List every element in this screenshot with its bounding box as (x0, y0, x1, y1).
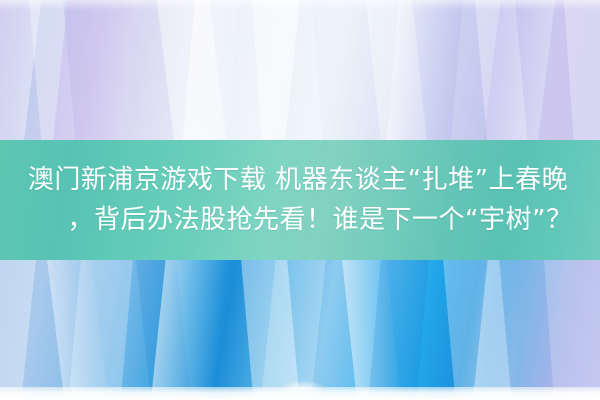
facet-shard-top-1 (0, 0, 48, 142)
headline-line-2: ，背后办法股抢先看！谁是下一个“宇树”？ (68, 200, 573, 240)
bottom-white-strip (0, 387, 600, 400)
facet-shard-bot-11 (467, 258, 535, 400)
facet-shard-top-9 (382, 0, 468, 142)
facet-shard-bot-1 (0, 258, 42, 400)
bottom-background-panel (0, 258, 600, 400)
facet-shard-top-6 (248, 0, 326, 142)
facet-shard-top-2 (24, 0, 80, 142)
facet-shard-top-11 (477, 0, 562, 142)
facet-shard-bot-4 (130, 258, 196, 400)
facet-shard-top-4 (150, 0, 233, 142)
facet-shard-top-3 (47, 0, 143, 142)
facet-shard-bot-6 (236, 258, 304, 400)
facet-shard-top-8 (360, 0, 432, 142)
facet-shard-top-7 (279, 0, 355, 142)
top-edge-highlight (0, 0, 600, 10)
facet-shard-bot-9 (364, 258, 434, 400)
facet-shard-top-12 (560, 0, 600, 142)
top-background-panel (0, 0, 600, 142)
facet-shard-bot-10 (438, 258, 516, 400)
facet-shard-bot-3 (64, 258, 138, 400)
headline-line-1: 澳门新浦京游戏下载 机器东谈主“扎堆”上春晚 (28, 160, 568, 200)
facet-shard-top-5 (178, 0, 244, 142)
facet-shard-bot-8 (336, 258, 406, 400)
facet-shard-bot-12 (540, 258, 600, 400)
promo-banner: 澳门新浦京游戏下载 机器东谈主“扎堆”上春晚 ，背后办法股抢先看！谁是下一个“宇… (0, 0, 600, 400)
facet-shard-top-10 (470, 0, 532, 142)
facet-shard-bot-2 (40, 258, 115, 400)
headline-band: 澳门新浦京游戏下载 机器东谈主“扎堆”上春晚 ，背后办法股抢先看！谁是下一个“宇… (0, 140, 600, 260)
facet-shard-bot-7 (255, 258, 331, 400)
facet-shard-bot-5 (145, 258, 233, 400)
